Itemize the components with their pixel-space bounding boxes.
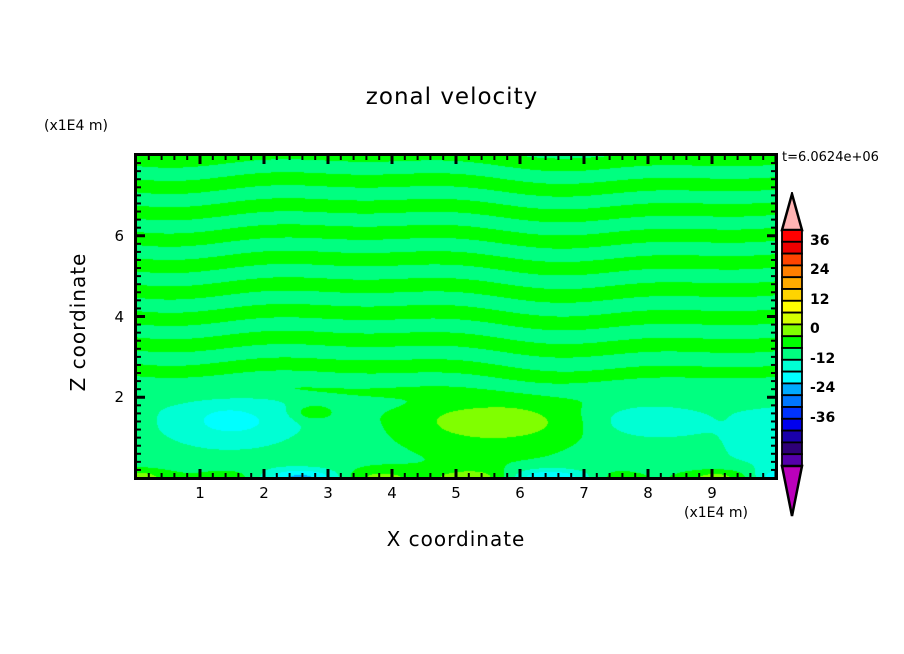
colorbar-tick-label: -36 bbox=[810, 410, 835, 426]
time-annotation: t=6.0624e+06 bbox=[782, 150, 879, 165]
colorbar-segment bbox=[782, 442, 802, 454]
x-tick-label: 1 bbox=[180, 484, 220, 502]
y-tick-label: 2 bbox=[98, 388, 124, 406]
colorbar-segment bbox=[782, 395, 802, 407]
colorbar-segment bbox=[782, 277, 802, 289]
x-tick-label: 9 bbox=[692, 484, 732, 502]
colorbar-segment bbox=[782, 360, 802, 372]
colorbar-segment bbox=[782, 289, 802, 301]
colorbar-segment bbox=[782, 454, 802, 466]
x-tick-label: 5 bbox=[436, 484, 476, 502]
colorbar-segment bbox=[782, 254, 802, 266]
colorbar-segment bbox=[782, 336, 802, 348]
x-tick-label: 4 bbox=[372, 484, 412, 502]
colorbar-under-arrow bbox=[782, 466, 802, 516]
x-tick-label: 6 bbox=[500, 484, 540, 502]
colorbar-segment bbox=[782, 372, 802, 384]
colorbar-segment bbox=[782, 407, 802, 419]
x-tick-label: 2 bbox=[244, 484, 284, 502]
colorbar-tick-label: 36 bbox=[810, 233, 829, 249]
figure-canvas: zonal velocity t=6.0624e+06 (x1E4 m) (x1… bbox=[0, 0, 904, 654]
x-tick-label: 7 bbox=[564, 484, 604, 502]
colorbar-segment bbox=[782, 348, 802, 360]
colorbar-tick-label: 24 bbox=[810, 262, 829, 278]
x-axis-title: X coordinate bbox=[136, 527, 776, 551]
colorbar-tick-label: 12 bbox=[810, 292, 829, 308]
colorbar-segment bbox=[782, 242, 802, 254]
colorbar-segment bbox=[782, 419, 802, 431]
x-tick-label: 3 bbox=[308, 484, 348, 502]
y-tick-label: 6 bbox=[98, 227, 124, 245]
contour-plot-area bbox=[136, 155, 776, 478]
colorbar-segment bbox=[782, 431, 802, 443]
colorbar-segment bbox=[782, 265, 802, 277]
contour-field bbox=[136, 155, 776, 478]
colorbar-segment bbox=[782, 324, 802, 336]
y-axis-title: Z coordinate bbox=[66, 222, 90, 422]
y-tick-label: 4 bbox=[98, 308, 124, 326]
x-axis-unit-label: (x1E4 m) bbox=[684, 505, 748, 521]
colorbar-segment bbox=[782, 301, 802, 313]
colorbar-tick-label: 0 bbox=[810, 321, 820, 337]
colorbar-segment bbox=[782, 383, 802, 395]
colorbar-segment bbox=[782, 313, 802, 325]
y-axis-unit-label: (x1E4 m) bbox=[44, 118, 108, 134]
colorbar-segment bbox=[782, 230, 802, 242]
page-title: zonal velocity bbox=[0, 84, 904, 110]
x-tick-label: 8 bbox=[628, 484, 668, 502]
colorbar-over-arrow bbox=[782, 194, 802, 230]
colorbar-tick-label: -12 bbox=[810, 351, 835, 367]
colorbar-tick-label: -24 bbox=[810, 380, 835, 396]
